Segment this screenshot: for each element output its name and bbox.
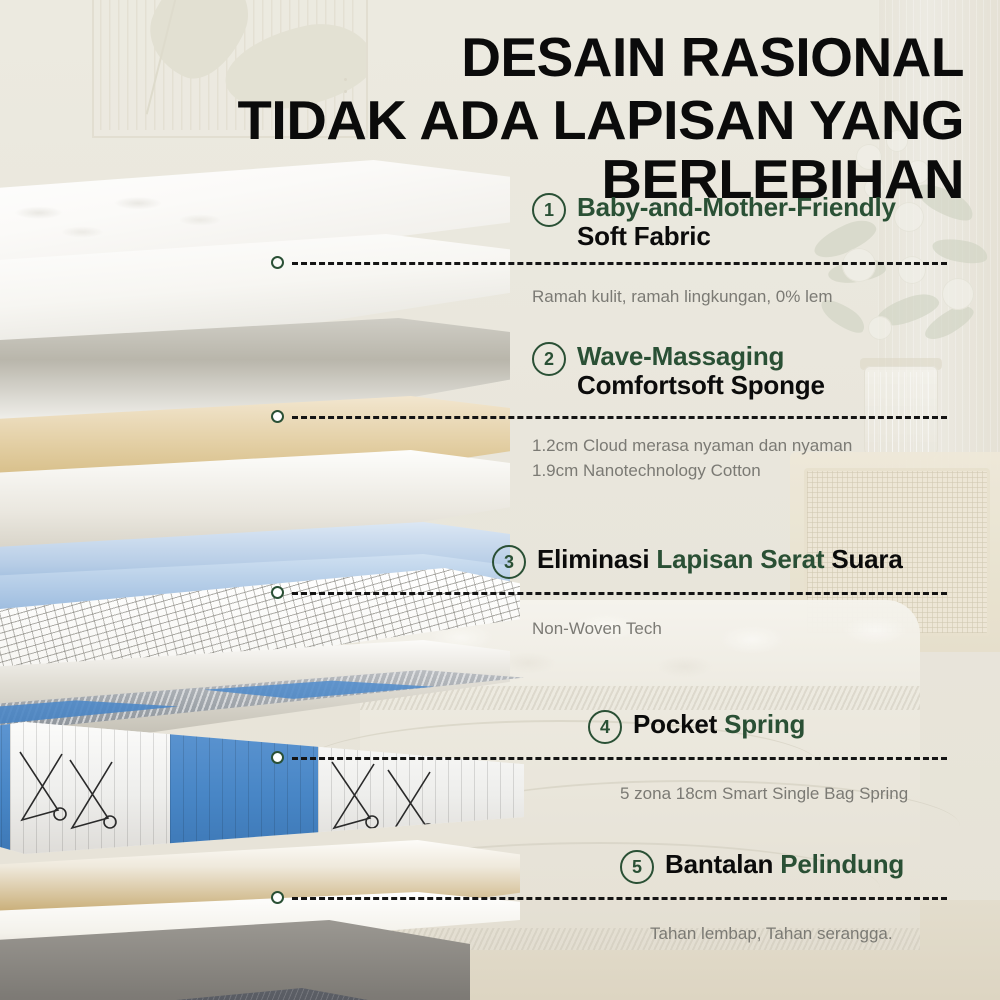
leader-dot-1 — [271, 256, 284, 269]
feature-title-5: Bantalan Pelindung — [665, 850, 904, 879]
feature-number-badge-2: 2 — [532, 342, 566, 376]
leader-dot-4 — [271, 751, 284, 764]
feature-subtext-3: Non-Woven Tech — [532, 617, 947, 642]
feature-subline: Tahan lembap, Tahan serangga. — [650, 922, 960, 947]
feature-number-badge-1: 1 — [532, 193, 566, 227]
feature-subtext-2: 1.2cm Cloud merasa nyaman dan nyaman 1.9… — [532, 434, 947, 483]
leader-dot-2 — [271, 410, 284, 423]
feature-callout-1[interactable]: 1 Baby-and-Mother-Friendly Soft Fabric R… — [532, 193, 947, 310]
feature-subtext-4: 5 zona 18cm Smart Single Bag Spring — [620, 782, 948, 807]
feature-subline: Ramah kulit, ramah lingkungan, 0% lem — [532, 285, 947, 310]
feature-title-black-pre-5: Bantalan — [665, 849, 773, 879]
feature-callout-5[interactable]: 5 Bantalan Pelindung Tahan lembap, Tahan… — [620, 850, 960, 947]
feature-subline: 1.9cm Nanotechnology Cotton — [532, 459, 947, 484]
feature-title-black-post-3: Suara — [831, 544, 902, 574]
feature-callout-2[interactable]: 2 Wave-Massaging Comfortsoft Sponge 1.2c… — [532, 342, 947, 484]
exploded-mattress-layers — [0, 150, 530, 980]
feature-subline: 1.2cm Cloud merasa nyaman dan nyaman — [532, 434, 947, 459]
feature-title-black-1: Soft Fabric — [577, 221, 711, 251]
feature-title-2: Wave-Massaging Comfortsoft Sponge — [577, 342, 825, 400]
spring-coil-icon — [14, 736, 174, 854]
feature-title-black-pre-3: Eliminasi — [537, 544, 649, 574]
feature-title-black-pre-4: Pocket — [633, 709, 717, 739]
leader-dot-5 — [271, 891, 284, 904]
feature-title-4: Pocket Spring — [633, 710, 805, 739]
feature-number-badge-4: 4 — [588, 710, 622, 744]
feature-title-3: Eliminasi Lapisan Serat Suara — [537, 545, 903, 574]
feature-callout-4[interactable]: 4 Pocket Spring 5 zona 18cm Smart Single… — [588, 710, 948, 807]
feature-title-black-2: Comfortsoft Sponge — [577, 370, 825, 400]
feature-title-green-1: Baby-and-Mother-Friendly — [577, 192, 896, 222]
feature-number-badge-3: 3 — [492, 545, 526, 579]
feature-subline: 5 zona 18cm Smart Single Bag Spring — [620, 782, 948, 807]
infographic-canvas: DESAIN RASIONAL TIDAK ADA LAPISAN YANG B… — [0, 0, 1000, 1000]
feature-number-badge-5: 5 — [620, 850, 654, 884]
feature-subline: Non-Woven Tech — [532, 617, 947, 642]
feature-title-green-5: Pelindung — [780, 849, 904, 879]
feature-callout-3[interactable]: 3 Eliminasi Lapisan Serat Suara Non-Wove… — [492, 545, 947, 642]
feature-title-green-2: Wave-Massaging — [577, 341, 784, 371]
layer-pocket-spring-unit — [0, 670, 524, 860]
feature-subtext-1: Ramah kulit, ramah lingkungan, 0% lem — [532, 285, 947, 310]
leader-dot-3 — [271, 586, 284, 599]
feature-title-green-4: Spring — [724, 709, 805, 739]
title-line-1: DESAIN RASIONAL — [24, 30, 964, 85]
feature-title-1: Baby-and-Mother-Friendly Soft Fabric — [577, 193, 896, 251]
feature-title-green-3: Lapisan Serat — [656, 544, 824, 574]
feature-subtext-5: Tahan lembap, Tahan serangga. — [650, 922, 960, 947]
page-title: DESAIN RASIONAL TIDAK ADA LAPISAN YANG B… — [24, 30, 964, 210]
